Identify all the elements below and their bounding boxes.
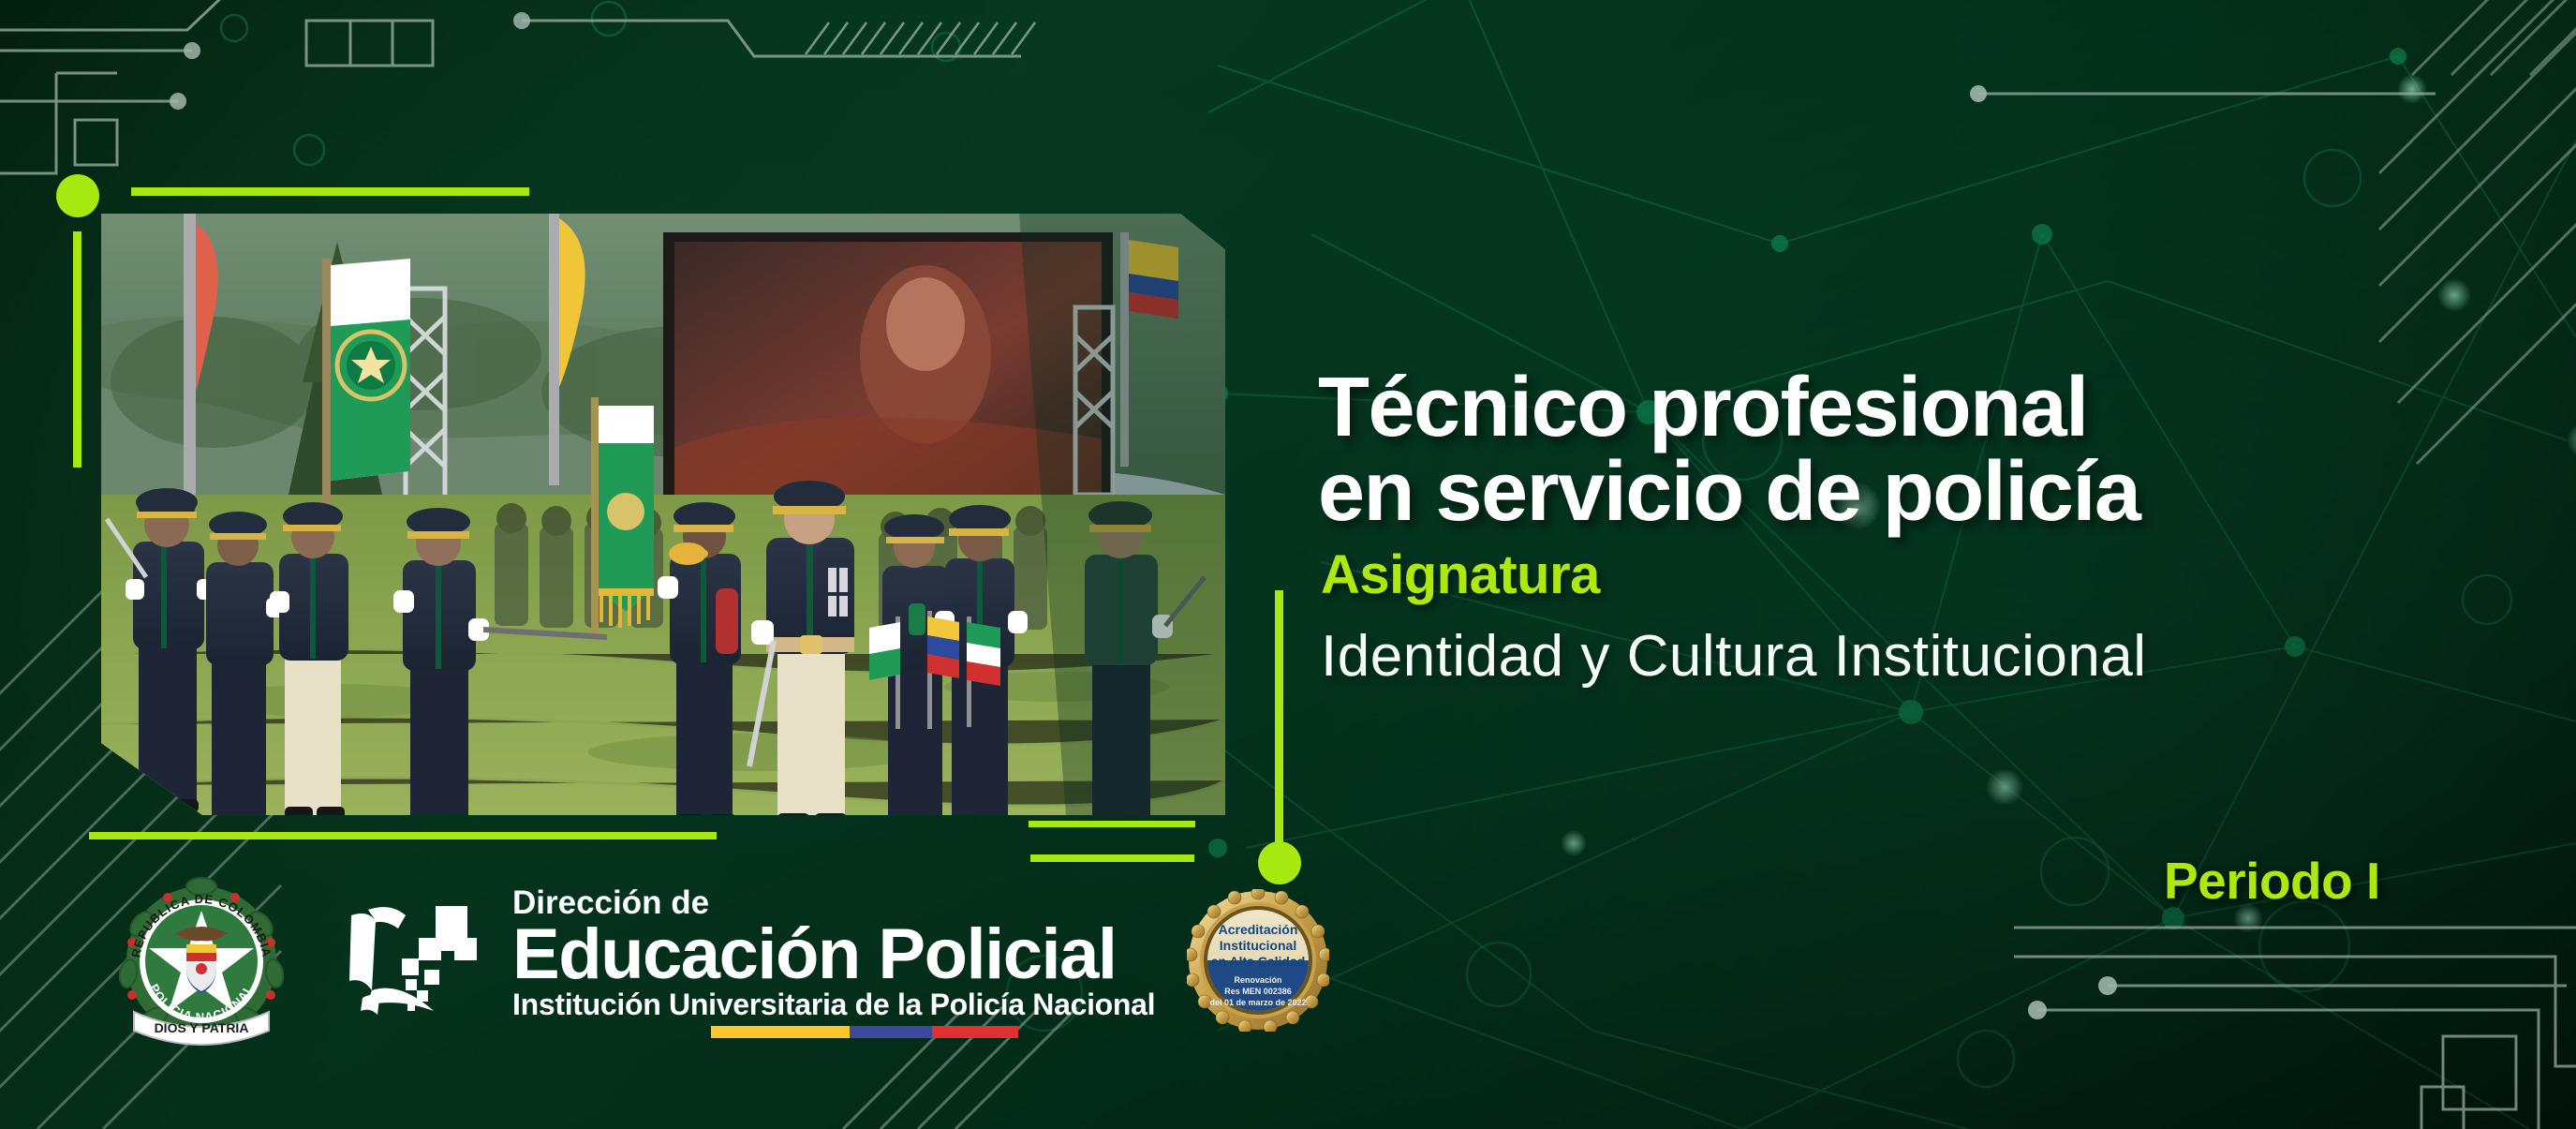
accent-line-bottom-right-upper [1029,821,1195,827]
hero-photo [101,214,1225,815]
accent-dot-top-left [56,174,99,217]
page-title: Técnico profesional en servicio de polic… [1318,365,2526,534]
open-book-pixels-icon [344,900,496,1020]
educacion-policial-logo: Dirección de Educación Policial Instituc… [344,884,1155,1036]
period-badge: Periodo I [2164,851,2380,911]
asignatura-label: Asignatura [1321,543,1600,606]
seal-line-3: en Alta Calidad [1211,954,1306,969]
seal-sub-2: Res MEN 002386 [1224,987,1292,996]
accent-line-bottom-left [89,832,717,839]
title-line-1: Técnico profesional [1318,361,2088,454]
crest-motto: DIOS Y PATRIA [155,1020,249,1035]
logo-line-2: Educación Policial [512,921,1155,988]
flag-yellow [711,1026,850,1038]
accent-line-bottom-right [1030,854,1194,862]
seal-sub-1: Renovación [1235,975,1282,985]
accent-line-top [131,187,529,196]
accreditation-seal-icon: Acreditación Institucional en Alta Calid… [1187,889,1329,1032]
accent-line-left [73,231,81,468]
police-crest-icon: REPUBLICA DE COLOMBIA POLICIA NACIONAL D… [117,875,286,1046]
seal-sub-3: del 01 de marzo de 2022 [1210,998,1307,1007]
subject-name: Identidad y Cultura Institucional [1321,623,2147,690]
seal-line-2: Institucional [1220,938,1296,953]
banner-root: Técnico profesional en servicio de polic… [0,0,2576,1129]
logo-strip: REPUBLICA DE COLOMBIA POLICIA NACIONAL D… [117,867,1329,1054]
title-line-2: en servicio de policía [1318,450,2526,534]
flag-red [932,1026,1018,1038]
flag-blue [850,1026,933,1038]
photo-canvas [101,214,1225,815]
seal-line-1: Acreditación [1219,922,1298,937]
logo-line-3: Institución Universitaria de la Policía … [512,989,1155,1019]
colombia-flag-bar [711,1026,1018,1038]
educacion-policial-text: Dirección de Educación Policial Instituc… [512,886,1155,1038]
accent-line-right [1275,590,1283,862]
